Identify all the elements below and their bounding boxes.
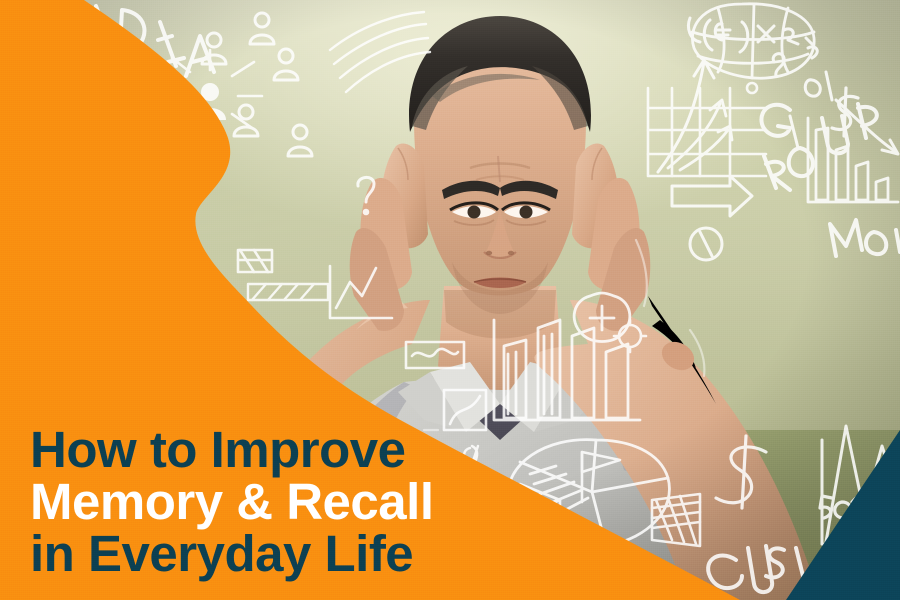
photo-grain-overlay — [0, 0, 900, 600]
promo-banner: How to Improve Memory & Recall in Everyd… — [0, 0, 900, 600]
